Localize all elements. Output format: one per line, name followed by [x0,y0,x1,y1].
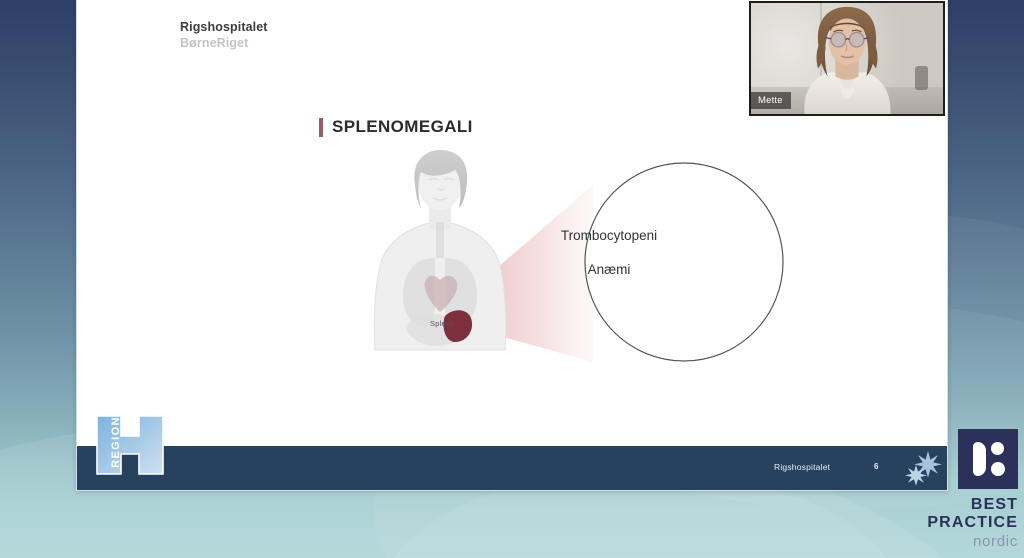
participant-name-label: Mette [751,92,791,109]
brand-line-primary: Rigshospitalet [180,20,268,36]
region-hovedstaden-logo: REGION [95,414,165,476]
symptom-item-2: Anæmi [514,262,704,277]
spleen-label: Spleen [430,319,455,328]
webinar-viewer: Rigshospitalet BørneRiget SPLENOMEGALI [0,0,1024,558]
title-accent-bar [319,118,323,137]
participant-video-tile[interactable]: Mette [749,1,945,116]
symptom-item-1: Trombocytopeni [514,228,704,243]
slide-footer-bar: Rigshospitalet 6 [77,446,948,490]
bpn-mark-icon [958,429,1018,489]
page-title: SPLENOMEGALI [332,117,473,137]
bpn-glyph-dot-bottom [991,462,1005,476]
bpn-glyph-dot-top [991,442,1004,455]
bpn-word-best: BEST [902,496,1018,515]
region-logo-word: REGION [110,411,122,473]
slide-brand: Rigshospitalet BørneRiget [180,20,268,51]
bpn-word-practice: PRACTICE [902,514,1018,533]
footer-organization: Rigshospitalet [774,462,830,472]
best-practice-nordic-logo: BEST PRACTICE nordic [902,429,1018,553]
slide-page-number: 6 [874,462,878,471]
brand-line-secondary: BørneRiget [180,36,268,52]
bpn-glyph-left [973,442,986,476]
slide-title-row: SPLENOMEGALI [319,117,473,137]
region-h-letter-icon [95,414,165,476]
bpn-word-nordic: nordic [902,533,1018,552]
